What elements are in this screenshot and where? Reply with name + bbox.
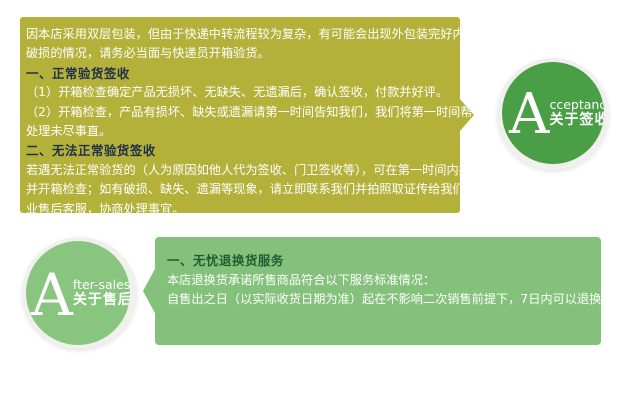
acceptance-item-2-2: 并开箱检查；如有破损、缺失、遗漏等现象，请立即联系我们并拍照取证传给我们的专	[26, 180, 451, 199]
acceptance-badge-inner: A cceptance 关于签收	[502, 62, 604, 164]
acceptance-item-1-3: 处理未尽事直。	[26, 122, 451, 141]
acceptance-badge-words: cceptance 关于签收	[549, 98, 604, 127]
aftersales-item-1-2: 自售出之日（以实际收货日期为准）起在不影响二次销售前提下，7日内可以退换货。	[167, 290, 587, 310]
aftersales-badge-inner: A fter-sales 关于售后	[26, 241, 130, 345]
acceptance-badge-english: cceptance	[549, 98, 604, 111]
aftersales-badge-english: fter-sales	[73, 278, 130, 291]
aftersales-badge-words: fter-sales 关于售后	[73, 278, 130, 307]
acceptance-badge: A cceptance 关于签收	[497, 58, 609, 170]
acceptance-panel: 因本店采用双层包装，但由于快递中转流程较为复杂，有可能会出现外包装完好内部件 破…	[20, 17, 473, 213]
acceptance-badge-initial: A	[509, 87, 549, 143]
aftersales-badge-chinese: 关于售后	[73, 292, 130, 308]
aftersales-badge-initial: A	[31, 266, 73, 324]
aftersales-badge: A fter-sales 关于售后	[22, 237, 137, 349]
acceptance-badge-chinese: 关于签收	[549, 112, 604, 128]
aftersales-panel: 一、无忧退换货服务 本店退换货承诺所售商品符合以下服务标准情况： 自售出之日（以…	[143, 237, 601, 345]
acceptance-item-1-2: （2）开箱检查，产品有损坏、缺失或遗漏请第一时间告知我们，我们将第一时间帮你	[26, 103, 451, 122]
aftersales-panel-arrow-icon	[143, 265, 157, 317]
acceptance-heading-1: 一、正常验货签收	[26, 64, 451, 83]
aftersales-heading-1: 一、无忧退换货服务	[167, 251, 587, 271]
acceptance-item-2-3: 业售后客服，协商处理事宜。	[26, 200, 451, 219]
aftersales-panel-text: 一、无忧退换货服务 本店退换货承诺所售商品符合以下服务标准情况： 自售出之日（以…	[167, 251, 587, 310]
acceptance-intro-line-1: 因本店采用双层包装，但由于快递中转流程较为复杂，有可能会出现外包装完好内部件	[26, 25, 451, 44]
acceptance-panel-text: 因本店采用双层包装，但由于快递中转流程较为复杂，有可能会出现外包装完好内部件 破…	[26, 25, 451, 219]
acceptance-item-2-1: 若遇无法正常验货的（人为原因如他人代为签收、门卫签收等），可在第一时间内拍照	[26, 161, 451, 180]
aftersales-item-1-1: 本店退换货承诺所售商品符合以下服务标准情况：	[167, 271, 587, 291]
acceptance-intro-line-2: 破损的情况，请务必当面与快递员开箱验货。	[26, 44, 451, 63]
acceptance-heading-2: 二、无法正常验货签收	[26, 141, 451, 160]
acceptance-item-1-1: （1）开箱检查确定产品无损坏、无缺失、无遗漏后，确认签收，付款并好评。	[26, 83, 451, 102]
